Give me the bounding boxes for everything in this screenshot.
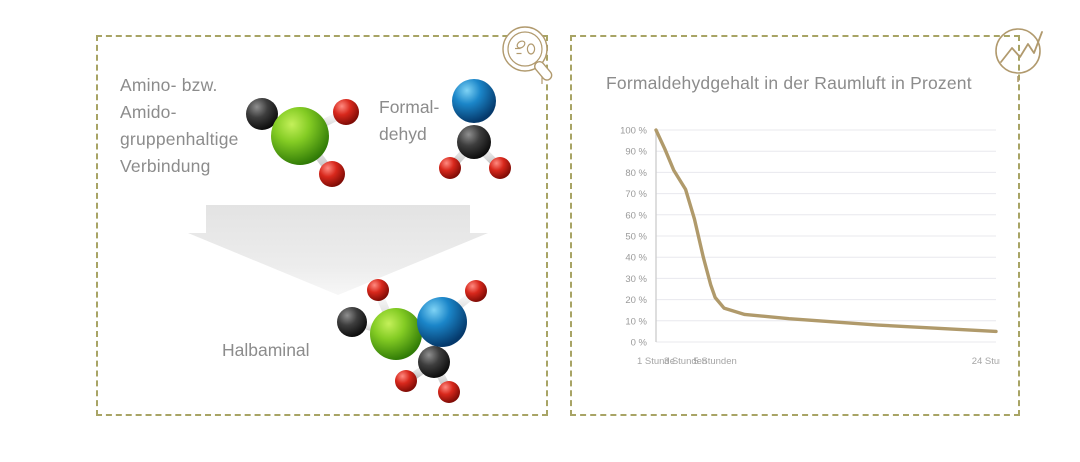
chart-y-tick-label: 80 % <box>625 168 647 179</box>
molecule-formaldehyde <box>430 68 522 186</box>
chart-y-tick-label: 60 % <box>625 210 647 221</box>
chart-plot: 100 %90 %80 %70 %60 %50 %40 %30 %20 %10 … <box>600 120 1000 380</box>
chart-svg: 100 %90 %80 %70 %60 %50 %40 %30 %20 %10 … <box>600 120 1000 380</box>
infographic-stage: Amino- bzw. Amido- gruppenhaltige Verbin… <box>0 0 1080 462</box>
chart-y-tick-label: 90 % <box>625 147 647 158</box>
trend-chart-circle-icon <box>990 24 1052 86</box>
molecule-amino-compound <box>236 82 368 194</box>
product-label: Halbaminal <box>222 337 310 364</box>
chart-y-tick-label: 100 % <box>620 126 647 137</box>
chart-y-tick-label: 70 % <box>625 189 647 200</box>
chart-title: Formaldehydgehalt in der Raumluft in Pro… <box>606 73 972 94</box>
chart-y-tick-label: 40 % <box>625 253 647 264</box>
chart-y-tick-labels: 100 %90 %80 %70 %60 %50 %40 %30 %20 %10 … <box>620 126 647 349</box>
chart-x-tick-label: 5 Stunden <box>693 356 736 367</box>
molecule-halbaminal <box>326 274 504 406</box>
chart-x-tick-labels: 1 Stunde3 Stunden5 Stunden24 Stunden <box>637 356 1000 367</box>
chart-y-tick-label: 0 % <box>631 338 648 349</box>
chart-gridlines <box>656 130 996 342</box>
chart-y-tick-label: 10 % <box>625 316 647 327</box>
chart-data-line <box>656 130 996 331</box>
chart-y-tick-label: 30 % <box>625 274 647 285</box>
chart-x-tick-label: 24 Stunden <box>972 356 1000 367</box>
chart-y-tick-label: 50 % <box>625 232 647 243</box>
chart-y-tick-label: 20 % <box>625 295 647 306</box>
